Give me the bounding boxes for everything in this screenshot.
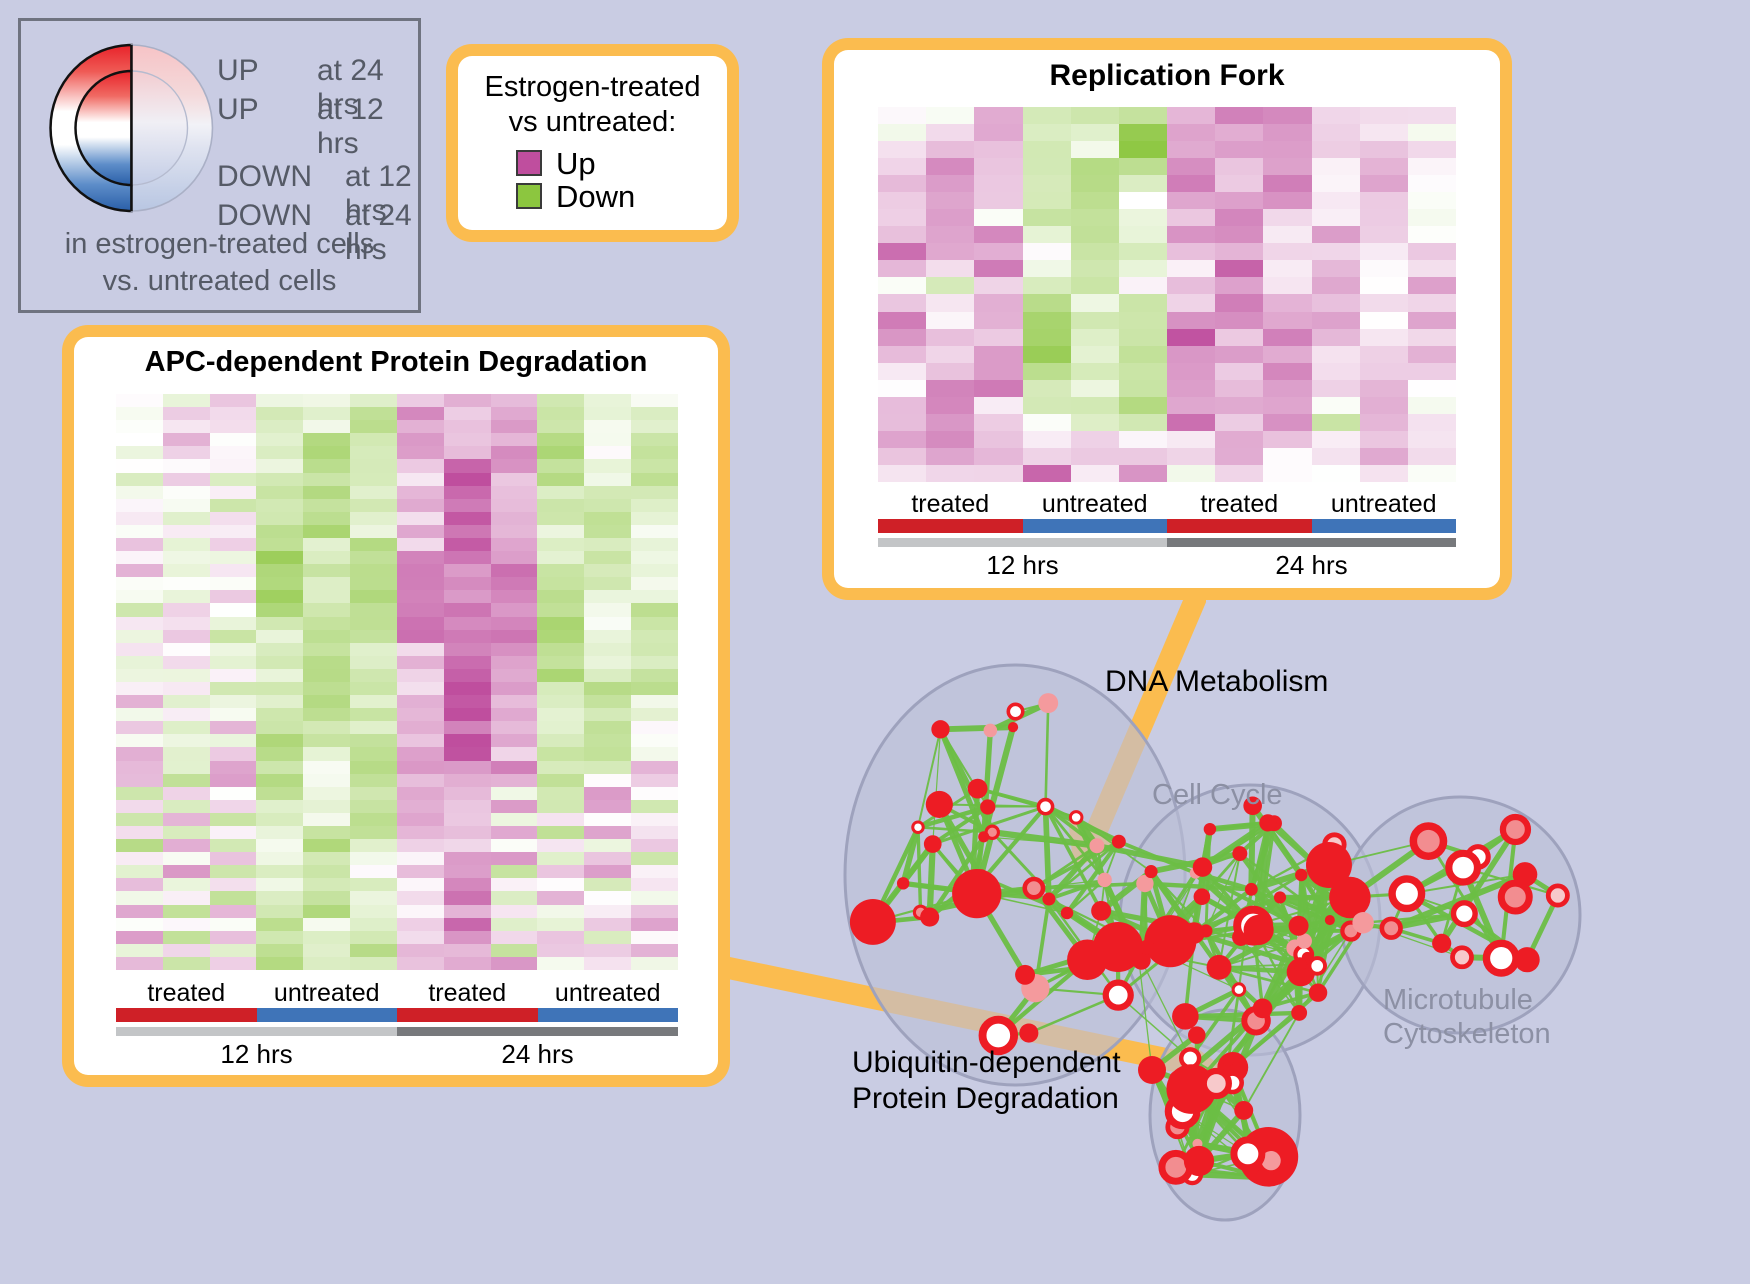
apc-time-label-24: 24 hrs [397,1039,678,1070]
apc-group-2-label: treated [397,979,538,1008]
apc-group-3-label: untreated [538,979,679,1008]
rf-group-1-label: untreated [1023,490,1168,519]
apc-bar-treated-24 [397,1008,538,1022]
rf-group-0-label: treated [878,490,1023,519]
legend-item-down: Down [516,181,717,212]
apc-group-names: treated untreated treated untreated [116,979,678,1008]
key-dir-up-24: UP [217,54,259,88]
rf-bar-untreated-12 [1023,519,1168,533]
rf-bar-untreated-24 [1312,519,1457,533]
ubiquitin-line2: Protein Degradation [852,1081,1121,1117]
rf-time-names: 12 hrs 24 hrs [878,550,1456,581]
color-key-box: UP at 24 hrs UP at 12 hrs DOWN at 12 hrs… [18,18,421,313]
color-key-caption-line1: in estrogen-treated cells [21,226,418,263]
cluster-label-cell-cycle: Cell Cycle [1152,779,1283,812]
apc-group-0-label: treated [116,979,257,1008]
apc-panel-title: APC-dependent Protein Degradation [74,337,718,379]
rf-time-label-24: 24 hrs [1167,550,1456,581]
cluster-label-microtubule-cytoskeleton: Microtubule Cytoskeleton [1383,983,1551,1051]
microtubule-line1: Microtubule [1383,983,1551,1017]
key-time-up-12: at 12 hrs [317,93,418,161]
apc-degradation-panel: APC-dependent Protein Degradation treate… [62,325,730,1087]
legend-item-up: Up [516,148,717,179]
apc-bar-untreated-12 [257,1008,398,1022]
rf-treatment-bar [878,519,1456,533]
down-swatch-icon [516,183,542,209]
rf-bar-treated-24 [1167,519,1312,533]
replication-fork-heatmap [878,107,1456,482]
rf-group-3-label: untreated [1312,490,1457,519]
legend-label-up: Up [556,148,596,179]
heatmap-legend-panel: Estrogen-treated vs untreated: Up Down [446,44,739,242]
apc-group-1-label: untreated [257,979,398,1008]
apc-bar-untreated-24 [538,1008,679,1022]
rf-time-bar [878,538,1456,547]
apc-time-bar [116,1027,678,1036]
heatmap-legend-title: Estrogen-treated vs untreated: [468,70,717,140]
heatmap-legend-items: Up Down [468,148,717,212]
replication-fork-panel: Replication Fork treated untreated treat… [822,38,1512,600]
network-graph [800,615,1750,1279]
heatmap-legend-title-line1: Estrogen-treated [468,70,717,105]
heatmap-legend-title-line2: vs untreated: [468,105,717,140]
ubiquitin-line1: Ubiquitin-dependent [852,1045,1121,1081]
up-down-ring-icon [49,43,214,213]
color-key-caption: in estrogen-treated cells vs. untreated … [21,226,418,300]
microtubule-line2: Cytoskeleton [1383,1017,1551,1051]
apc-time-label-12: 12 hrs [116,1039,397,1070]
apc-bar-treated-12 [116,1008,257,1022]
rf-timebar-24 [1167,538,1456,547]
up-swatch-icon [516,150,542,176]
key-dir-up-12: UP [217,93,259,127]
color-key-caption-line2: vs. untreated cells [21,263,418,300]
cluster-label-ubiquitin-degradation: Ubiquitin-dependent Protein Degradation [852,1045,1121,1117]
pathway-network-diagram: DNA Metabolism Cell Cycle Microtubule Cy… [800,615,1750,1279]
apc-time-names: 12 hrs 24 hrs [116,1039,678,1070]
legend-label-down: Down [556,181,635,212]
apc-heatmap [116,394,678,970]
apc-timebar-12 [116,1027,397,1036]
rf-timebar-12 [878,538,1167,547]
rf-group-2-label: treated [1167,490,1312,519]
apc-timebar-24 [397,1027,678,1036]
rf-time-label-12: 12 hrs [878,550,1167,581]
replication-fork-title: Replication Fork [834,50,1500,93]
rf-bar-treated-12 [878,519,1023,533]
rf-group-names: treated untreated treated untreated [878,490,1456,519]
key-dir-down-12: DOWN [217,160,312,194]
apc-treatment-bar [116,1008,678,1022]
figure-canvas: UP at 24 hrs UP at 12 hrs DOWN at 12 hrs… [0,0,1750,1279]
cluster-label-dna-metabolism: DNA Metabolism [1105,665,1328,699]
